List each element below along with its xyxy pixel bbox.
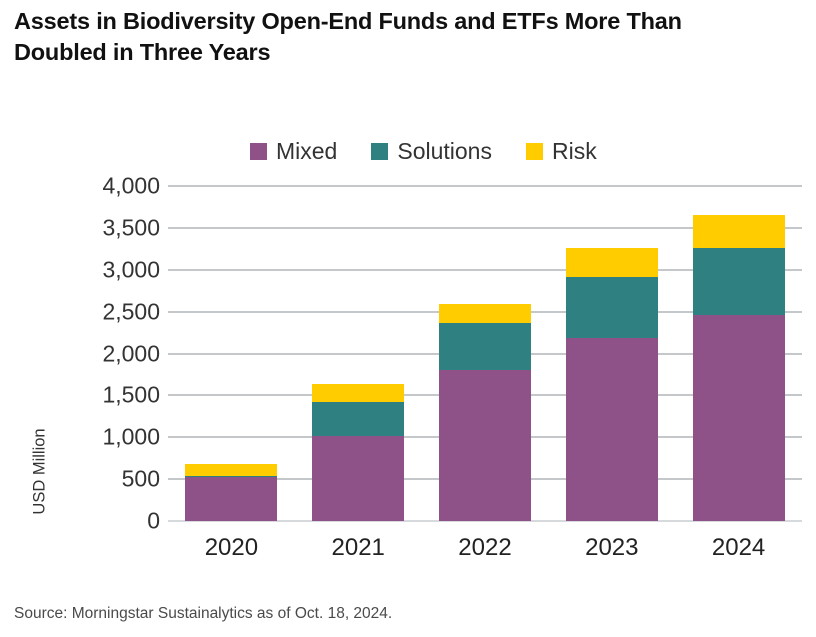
bar-segment-risk-2022[interactable] [439, 304, 531, 323]
bar-group-2023[interactable] [566, 186, 658, 521]
bar-segment-mixed-2023[interactable] [566, 338, 658, 521]
bar-stack [185, 464, 277, 521]
x-axis-tick-label-2023: 2023 [548, 534, 675, 562]
bar-segment-solutions-2023[interactable] [566, 277, 658, 338]
legend-item-solutions: Solutions [371, 140, 492, 163]
chart-legend: Mixed Solutions Risk [250, 140, 597, 163]
bar-segment-risk-2023[interactable] [566, 248, 658, 277]
x-axis-tick-label-2020: 2020 [168, 534, 295, 562]
y-axis-tick-label: 500 [122, 468, 160, 491]
legend-label-mixed: Mixed [276, 140, 337, 163]
bar-group-2020[interactable] [185, 186, 277, 521]
bar-stack [439, 304, 531, 521]
legend-swatch-solutions-icon [371, 143, 388, 160]
legend-label-solutions: Solutions [397, 140, 492, 163]
y-axis-tick-label: 3,500 [102, 216, 160, 239]
page-title: Assets in Biodiversity Open-End Funds an… [14, 6, 784, 68]
x-axis-tick-labels: 20202021202220232024 [168, 534, 802, 574]
y-axis-tick-label: 2,500 [102, 300, 160, 323]
y-axis-tick-label: 0 [147, 510, 160, 533]
legend-swatch-risk-icon [526, 143, 543, 160]
x-axis-tick-label-2022: 2022 [422, 534, 549, 562]
bar-segment-solutions-2022[interactable] [439, 323, 531, 370]
legend-item-mixed: Mixed [250, 140, 337, 163]
bar-group-2024[interactable] [693, 186, 785, 521]
x-axis-tick-label-2021: 2021 [295, 534, 422, 562]
source-divider [0, 592, 816, 593]
bar-series-container [168, 186, 802, 521]
y-axis-tick-label: 1,500 [102, 384, 160, 407]
y-axis-tick-label: 2,000 [102, 342, 160, 365]
bar-segment-mixed-2024[interactable] [693, 315, 785, 521]
bar-segment-risk-2024[interactable] [693, 215, 785, 248]
bar-group-2022[interactable] [439, 186, 531, 521]
bar-stack [566, 248, 658, 521]
bar-stack [312, 384, 404, 521]
bar-group-2021[interactable] [312, 186, 404, 521]
y-axis-tick-label: 4,000 [102, 175, 160, 198]
y-axis-title: USD Million [31, 412, 50, 532]
y-axis-tick-label: 1,000 [102, 426, 160, 449]
bar-segment-solutions-2024[interactable] [693, 248, 785, 315]
legend-label-risk: Risk [552, 140, 597, 163]
bar-segment-risk-2021[interactable] [312, 384, 404, 402]
legend-item-risk: Risk [526, 140, 597, 163]
y-axis-tick-label: 3,000 [102, 258, 160, 281]
bar-segment-solutions-2021[interactable] [312, 402, 404, 436]
bar-segment-mixed-2022[interactable] [439, 370, 531, 521]
bar-segment-mixed-2021[interactable] [312, 436, 404, 521]
x-axis-tick-label-2024: 2024 [675, 534, 802, 562]
bar-segment-mixed-2020[interactable] [185, 477, 277, 521]
source-note: Source: Morningstar Sustainalytics as of… [14, 605, 392, 623]
bar-segment-risk-2020[interactable] [185, 464, 277, 475]
bar-stack [693, 215, 785, 521]
legend-swatch-mixed-icon [250, 143, 267, 160]
y-axis-tick-labels: 4,0003,5003,0002,5002,0001,5001,0005000 [58, 186, 160, 521]
